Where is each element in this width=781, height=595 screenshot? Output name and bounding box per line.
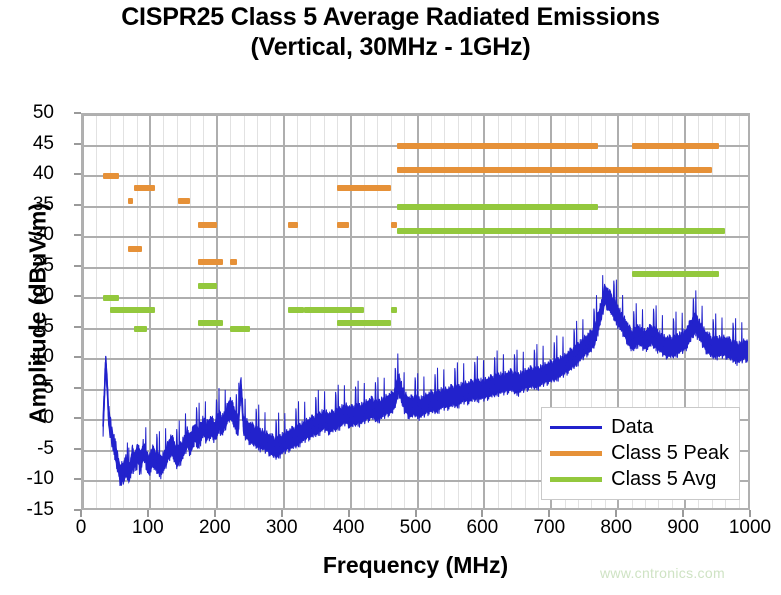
- x-tick-label-2: 200: [180, 517, 250, 539]
- y-tick-label-2: -5: [10, 438, 54, 460]
- y-tick-label-6: 15: [10, 316, 54, 338]
- y-tick-label-3: 0: [10, 407, 54, 429]
- y-tick-mark-1: [74, 478, 81, 480]
- x-tick-label-4: 400: [314, 517, 384, 539]
- x-tick-mark-0: [80, 510, 82, 517]
- y-tick-label-1: -10: [10, 468, 54, 490]
- x-tick-label-0: 0: [46, 517, 116, 539]
- x-tick-label-8: 800: [581, 517, 651, 539]
- x-tick-mark-9: [682, 510, 684, 517]
- y-tick-mark-2: [74, 448, 81, 450]
- x-tick-mark-7: [548, 510, 550, 517]
- plot-area: Data Class 5 Peak Class 5 Avg: [81, 113, 750, 510]
- y-tick-label-5: 10: [10, 346, 54, 368]
- legend-label-data: Data: [611, 416, 653, 439]
- x-tick-mark-3: [281, 510, 283, 517]
- x-tick-label-3: 300: [247, 517, 317, 539]
- legend-swatch-data-icon: [550, 426, 602, 429]
- y-tick-label-7: 20: [10, 285, 54, 307]
- chart-root: CISPR25 Class 5 Average Radiated Emissio…: [0, 0, 781, 595]
- legend-swatch-avg-icon: [550, 477, 602, 482]
- x-tick-mark-5: [415, 510, 417, 517]
- legend-item-data[interactable]: Data: [550, 414, 729, 440]
- x-tick-label-1: 100: [113, 517, 183, 539]
- chart-title: CISPR25 Class 5 Average Radiated Emissio…: [0, 2, 781, 62]
- y-tick-label-10: 35: [10, 194, 54, 216]
- x-tick-label-7: 700: [514, 517, 584, 539]
- legend-item-class5-avg[interactable]: Class 5 Avg: [550, 466, 729, 492]
- watermark: www.cntronics.com: [600, 565, 725, 581]
- y-tick-label-12: 45: [10, 133, 54, 155]
- y-tick-mark-11: [74, 173, 81, 175]
- y-tick-label-9: 30: [10, 224, 54, 246]
- x-tick-mark-2: [214, 510, 216, 517]
- legend-item-class5-peak[interactable]: Class 5 Peak: [550, 440, 729, 466]
- legend[interactable]: Data Class 5 Peak Class 5 Avg: [541, 407, 740, 500]
- y-tick-label-13: 50: [10, 102, 54, 124]
- legend-label-class5-peak: Class 5 Peak: [611, 442, 729, 465]
- y-tick-label-11: 40: [10, 163, 54, 185]
- y-tick-mark-13: [74, 112, 81, 114]
- x-tick-mark-10: [749, 510, 751, 517]
- x-tick-label-6: 600: [447, 517, 517, 539]
- x-tick-mark-4: [348, 510, 350, 517]
- legend-swatch-peak-icon: [550, 451, 602, 456]
- y-tick-label-4: 5: [10, 377, 54, 399]
- legend-label-class5-avg: Class 5 Avg: [611, 468, 716, 491]
- x-tick-mark-8: [615, 510, 617, 517]
- y-tick-mark-8: [74, 265, 81, 267]
- x-tick-label-9: 900: [648, 517, 718, 539]
- x-tick-mark-1: [147, 510, 149, 517]
- y-tick-mark-10: [74, 204, 81, 206]
- chart-subtitle: (Vertical, 30MHz - 1GHz): [0, 32, 781, 62]
- y-tick-mark-9: [74, 234, 81, 236]
- x-tick-label-5: 500: [381, 517, 451, 539]
- y-tick-mark-4: [74, 387, 81, 389]
- y-tick-mark-5: [74, 356, 81, 358]
- y-tick-mark-3: [74, 417, 81, 419]
- chart-title-line1: CISPR25 Class 5 Average Radiated Emissio…: [121, 3, 660, 31]
- y-tick-label-8: 25: [10, 255, 54, 277]
- y-tick-mark-12: [74, 143, 81, 145]
- x-tick-mark-6: [481, 510, 483, 517]
- x-tick-label-10: 1000: [715, 517, 781, 539]
- y-tick-mark-6: [74, 326, 81, 328]
- y-tick-mark-7: [74, 295, 81, 297]
